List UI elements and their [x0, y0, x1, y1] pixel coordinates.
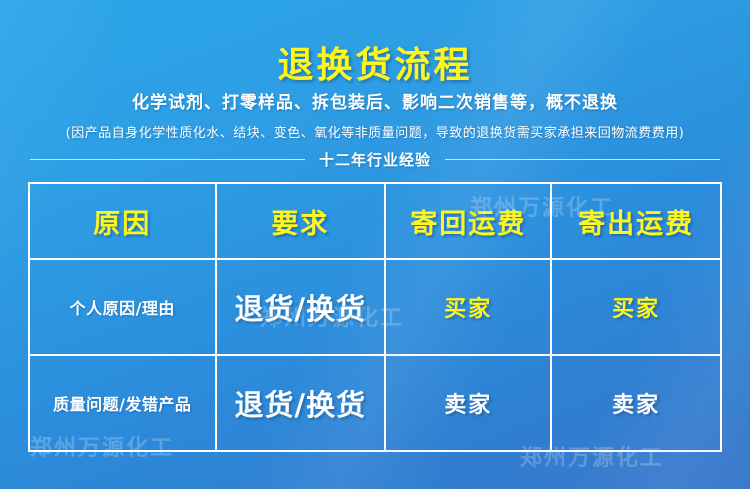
table-header-return-shipping: 寄回运费: [385, 183, 551, 259]
cell-send-shipping: 卖家: [551, 355, 721, 451]
table-header-requirement: 要求: [216, 183, 386, 259]
policy-note-text: (因产品自身化学性质化水、结块、变色、氧化等非质量问题，导致的退换货需买家承担来…: [0, 122, 750, 141]
table-row: 个人原因/理由 退货/换货 买家 买家: [29, 259, 721, 355]
experience-label: 十二年行业经验: [319, 149, 431, 170]
refund-policy-banner: 郑州万源化工 郑州万源化工 郑州万源化工 郑州万源化工 退换货流程 化学试剂、打…: [0, 0, 750, 489]
table-header-row: 原因 要求 寄回运费 寄出运费: [29, 183, 721, 259]
cell-reason: 个人原因/理由: [29, 259, 216, 355]
refund-policy-table-wrapper: 原因 要求 寄回运费 寄出运费 个人原因/理由 退货/换货 买家 买家 质量问题…: [28, 182, 722, 440]
cell-requirement: 退货/换货: [216, 355, 386, 451]
table-row: 质量问题/发错产品 退货/换货 卖家 卖家: [29, 355, 721, 451]
divider-line-right: [445, 159, 720, 160]
page-title: 退换货流程: [0, 36, 750, 88]
refund-policy-table: 原因 要求 寄回运费 寄出运费 个人原因/理由 退货/换货 买家 买家 质量问题…: [28, 182, 722, 452]
experience-divider: 十二年行业经验: [30, 147, 720, 171]
cell-reason: 质量问题/发错产品: [29, 355, 216, 451]
cell-requirement: 退货/换货: [216, 259, 386, 355]
divider-line-left: [30, 159, 305, 160]
cell-return-shipping: 买家: [385, 259, 551, 355]
table-header-send-shipping: 寄出运费: [551, 183, 721, 259]
policy-highlight-text: 化学试剂、打零样品、拆包装后、影响二次销售等，概不退换: [0, 88, 750, 113]
cell-send-shipping: 买家: [551, 259, 721, 355]
cell-return-shipping: 卖家: [385, 355, 551, 451]
table-header-reason: 原因: [29, 183, 216, 259]
